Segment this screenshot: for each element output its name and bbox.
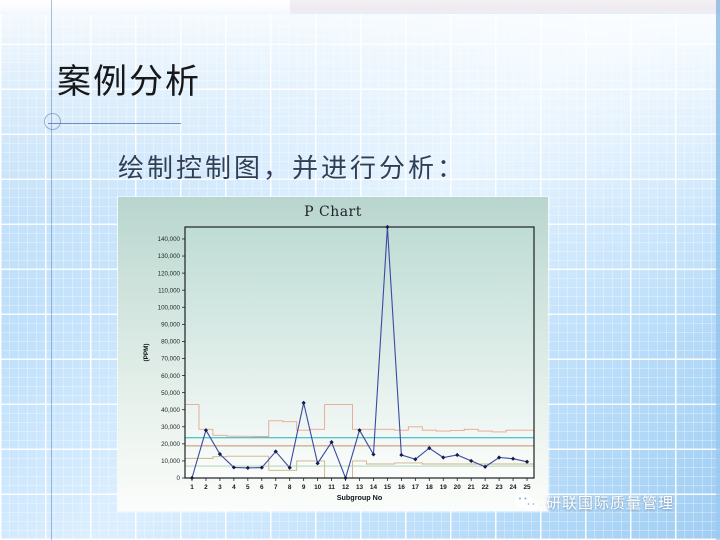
top-strip-decoration bbox=[0, 0, 720, 14]
svg-text:15: 15 bbox=[384, 484, 392, 491]
svg-text:11: 11 bbox=[328, 484, 335, 491]
svg-text:130,000: 130,000 bbox=[158, 253, 181, 260]
svg-text:40,000: 40,000 bbox=[161, 407, 180, 414]
svg-text:6: 6 bbox=[260, 484, 264, 491]
svg-text:50,000: 50,000 bbox=[161, 390, 180, 397]
svg-text:25: 25 bbox=[523, 484, 531, 491]
svg-text:5: 5 bbox=[246, 484, 250, 491]
p-chart-plot: 010,00020,00030,00040,00050,00060,00070,… bbox=[118, 197, 548, 511]
svg-text:Subgroup No: Subgroup No bbox=[337, 493, 383, 502]
svg-text:20,000: 20,000 bbox=[161, 441, 180, 448]
svg-text:10: 10 bbox=[314, 484, 322, 491]
svg-text:60,000: 60,000 bbox=[161, 373, 180, 380]
svg-text:17: 17 bbox=[412, 484, 420, 491]
wechat-icon bbox=[513, 492, 539, 513]
svg-text:24: 24 bbox=[510, 484, 518, 491]
svg-text:16: 16 bbox=[398, 484, 406, 491]
left-vertical-rule bbox=[51, 0, 52, 540]
circle-decoration bbox=[44, 113, 61, 130]
top-strip-left-decoration bbox=[0, 0, 290, 14]
svg-text:13: 13 bbox=[356, 484, 364, 491]
svg-text:80,000: 80,000 bbox=[161, 339, 180, 346]
page-title: 案例分析 bbox=[57, 62, 201, 102]
svg-text:2: 2 bbox=[204, 484, 208, 491]
svg-text:9: 9 bbox=[302, 484, 306, 491]
watermark: 研联国际质量管理 bbox=[513, 492, 674, 513]
svg-text:21: 21 bbox=[468, 484, 476, 491]
svg-text:(PPM): (PPM) bbox=[143, 343, 150, 361]
title-underline bbox=[48, 123, 181, 124]
svg-text:18: 18 bbox=[426, 484, 434, 491]
svg-text:3: 3 bbox=[218, 484, 222, 491]
right-edge-decoration bbox=[716, 0, 720, 540]
svg-text:14: 14 bbox=[370, 484, 378, 491]
watermark-text: 研联国际质量管理 bbox=[546, 492, 674, 513]
svg-text:140,000: 140,000 bbox=[158, 236, 181, 243]
svg-text:90,000: 90,000 bbox=[161, 322, 180, 329]
svg-text:120,000: 120,000 bbox=[158, 270, 181, 277]
svg-text:19: 19 bbox=[440, 484, 448, 491]
slide-canvas: 案例分析 绘制控制图，并进行分析： P Chart 010,00020,0003… bbox=[0, 0, 720, 540]
svg-text:100,000: 100,000 bbox=[158, 304, 181, 311]
svg-text:22: 22 bbox=[482, 484, 490, 491]
svg-text:1: 1 bbox=[190, 484, 194, 491]
svg-text:0: 0 bbox=[177, 475, 181, 482]
svg-text:23: 23 bbox=[496, 484, 504, 491]
slide-subtitle: 绘制控制图，并进行分析： bbox=[118, 152, 466, 186]
svg-text:110,000: 110,000 bbox=[158, 287, 180, 294]
svg-text:12: 12 bbox=[342, 484, 350, 491]
svg-text:7: 7 bbox=[274, 484, 278, 491]
svg-text:8: 8 bbox=[288, 484, 292, 491]
svg-text:20: 20 bbox=[454, 484, 462, 491]
svg-text:30,000: 30,000 bbox=[161, 424, 180, 431]
svg-text:70,000: 70,000 bbox=[161, 356, 180, 363]
chart-image: P Chart 010,00020,00030,00040,00050,0006… bbox=[118, 197, 548, 511]
svg-text:10,000: 10,000 bbox=[161, 458, 180, 465]
svg-text:4: 4 bbox=[232, 484, 236, 491]
